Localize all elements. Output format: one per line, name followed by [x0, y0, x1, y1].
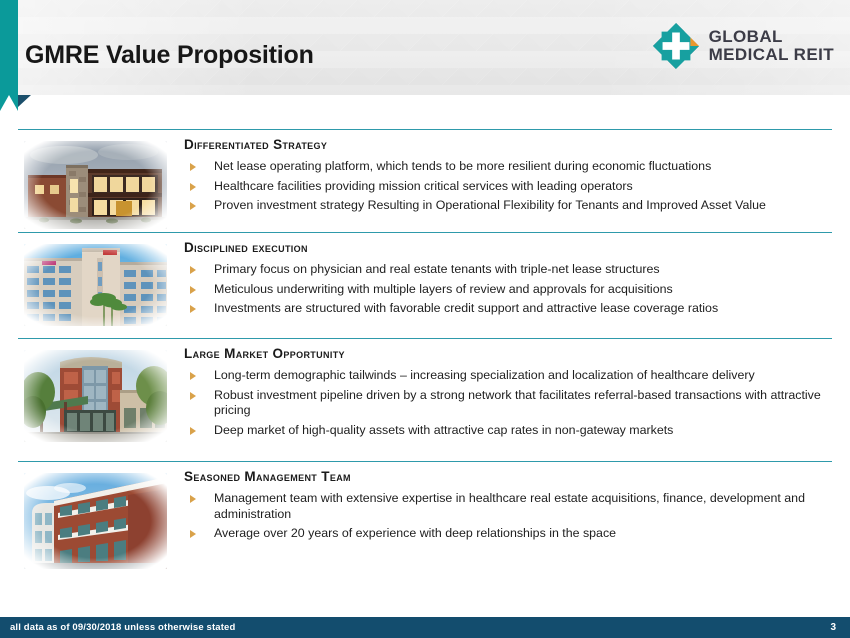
arrow-bullet-icon [190, 530, 196, 538]
bullet-list: Primary focus on physician and real esta… [184, 262, 832, 317]
photo-red-brick-curved-glass-entrance [24, 350, 167, 442]
photo-brick-stone-medical-office-dusk [24, 141, 167, 229]
ribbon-shadow-notch-icon [18, 95, 31, 107]
bullet-list: Management team with extensive expertise… [184, 491, 832, 542]
brand-logo: GLOBAL MEDICAL REIT [652, 22, 834, 70]
list-item: Proven investment strategy Resulting in … [184, 198, 832, 214]
section-photo-wrap [24, 346, 171, 442]
bullet-text: Primary focus on physician and real esta… [214, 262, 660, 276]
logo-wordmark: GLOBAL MEDICAL REIT [709, 28, 834, 65]
list-item: Net lease operating platform, which tend… [184, 159, 832, 175]
bullet-text: Management team with extensive expertise… [214, 491, 805, 521]
section-content: Differentiated Strategy Net lease operat… [171, 137, 832, 218]
medical-cross-pinwheel-icon [652, 22, 700, 70]
section-heading: Large Market Opportunity [184, 346, 832, 361]
ribbon-arrow-tip-icon [0, 95, 18, 111]
section-heading: Seasoned Management Team [184, 469, 832, 484]
bullet-list: Long-term demographic tailwinds – increa… [184, 368, 832, 438]
section-content: Seasoned Management Team Management team… [171, 469, 832, 546]
bullet-text: Net lease operating platform, which tend… [214, 159, 711, 173]
list-item: Investments are structured with favorabl… [184, 301, 832, 317]
logo-line-2: MEDICAL REIT [709, 46, 834, 64]
section-content: Disciplined execution Primary focus on p… [171, 240, 832, 321]
section-heading: Differentiated Strategy [184, 137, 832, 152]
list-item: Robust investment pipeline driven by a s… [184, 388, 832, 419]
bullet-text: Average over 20 years of experience with… [214, 526, 616, 540]
bullet-list: Net lease operating platform, which tend… [184, 159, 832, 214]
list-item: Healthcare facilities providing mission … [184, 179, 832, 195]
section-divider [18, 232, 832, 233]
bullet-text: Meticulous underwriting with multiple la… [214, 282, 673, 296]
bullet-text: Healthcare facilities providing mission … [214, 179, 633, 193]
photo-red-brick-three-story-teal-windows [24, 473, 167, 569]
list-item: Meticulous underwriting with multiple la… [184, 282, 832, 298]
section-divider [18, 129, 832, 130]
section-heading: Disciplined execution [184, 240, 832, 255]
arrow-bullet-icon [190, 286, 196, 294]
bullet-text: Long-term demographic tailwinds – increa… [214, 368, 755, 382]
footer-note: all data as of 09/30/2018 unless otherwi… [10, 622, 235, 633]
slide-footer: all data as of 09/30/2018 unless otherwi… [0, 617, 850, 638]
list-item: Management team with extensive expertise… [184, 491, 832, 522]
arrow-bullet-icon [190, 183, 196, 191]
page-title: GMRE Value Proposition [25, 41, 314, 70]
section-divider [18, 461, 832, 462]
bullet-text: Investments are structured with favorabl… [214, 301, 718, 315]
arrow-bullet-icon [190, 372, 196, 380]
bullet-text: Proven investment strategy Resulting in … [214, 198, 766, 212]
arrow-bullet-icon [190, 305, 196, 313]
page-number: 3 [830, 622, 836, 633]
slide: GMRE Value Proposition GLOBAL MEDICAL RE… [0, 0, 850, 638]
list-item: Deep market of high-quality assets with … [184, 423, 832, 439]
section-content: Large Market Opportunity Long-term demog… [171, 346, 832, 442]
photo-tan-medical-tower-palm-trees [24, 244, 167, 326]
arrow-bullet-icon [190, 427, 196, 435]
logo-line-1: GLOBAL [709, 28, 834, 46]
list-item: Long-term demographic tailwinds – increa… [184, 368, 832, 384]
arrow-bullet-icon [190, 392, 196, 400]
arrow-bullet-icon [190, 266, 196, 274]
section-photo-wrap [24, 469, 171, 569]
section-divider [18, 338, 832, 339]
teal-accent-ribbon [0, 0, 18, 95]
bullet-text: Deep market of high-quality assets with … [214, 423, 673, 437]
section-photo-wrap [24, 137, 171, 229]
arrow-bullet-icon [190, 495, 196, 503]
list-item: Primary focus on physician and real esta… [184, 262, 832, 278]
slide-body: Differentiated Strategy Net lease operat… [0, 95, 850, 615]
bullet-text: Robust investment pipeline driven by a s… [214, 388, 821, 418]
arrow-bullet-icon [190, 202, 196, 210]
arrow-bullet-icon [190, 163, 196, 171]
list-item: Average over 20 years of experience with… [184, 526, 832, 542]
section-photo-wrap [24, 240, 171, 326]
